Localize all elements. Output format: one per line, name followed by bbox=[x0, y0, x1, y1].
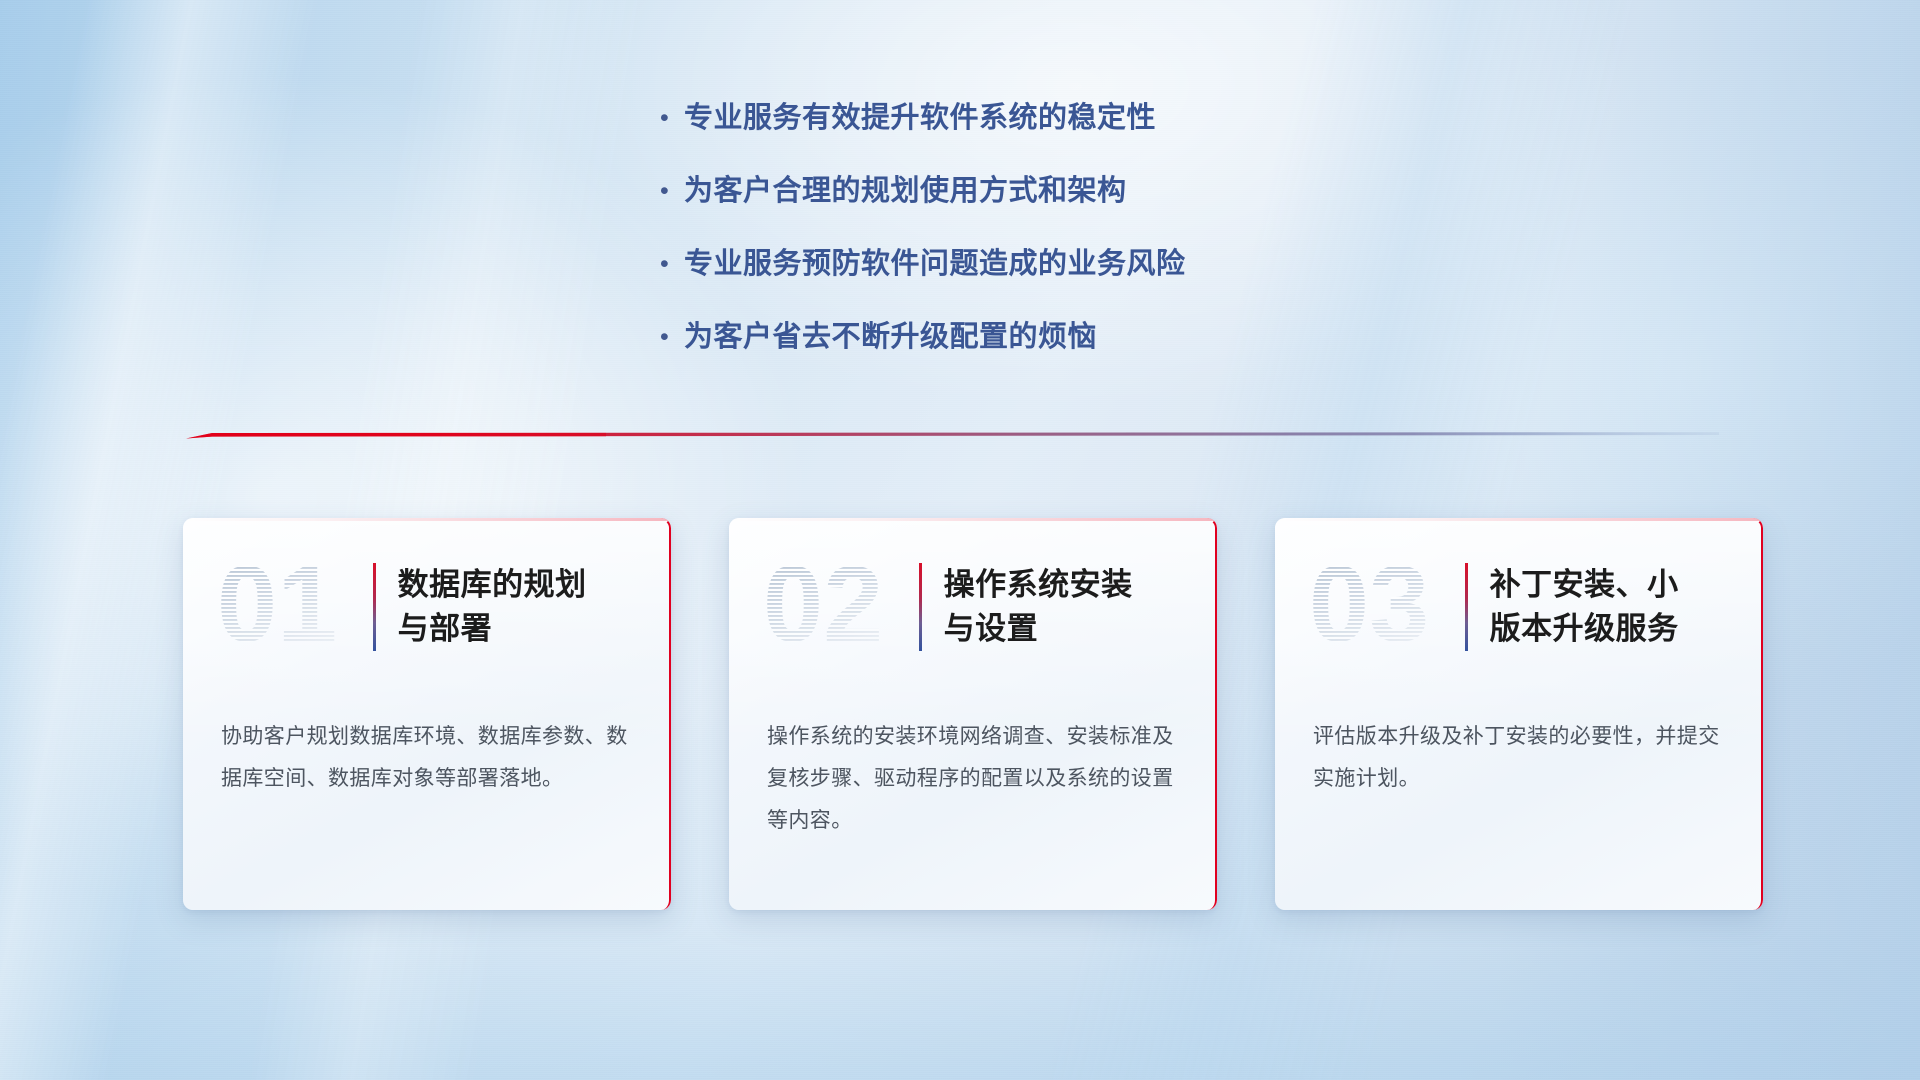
card-title: 补丁安装、小 版本升级服务 bbox=[1490, 563, 1679, 651]
bullet-text: 为客户合理的规划使用方式和架构 bbox=[684, 171, 1127, 211]
bullet-dot-icon: • bbox=[660, 244, 684, 284]
card-number-striped-graphic: 01 bbox=[217, 555, 367, 659]
benefits-bullet-list: • 专业服务有效提升软件系统的稳定性 • 为客户合理的规划使用方式和架构 • 专… bbox=[660, 98, 1420, 390]
list-item: • 为客户合理的规划使用方式和架构 bbox=[660, 171, 1420, 211]
card-number-striped-graphic: 02 bbox=[763, 555, 913, 659]
section-divider bbox=[186, 427, 1719, 441]
bullet-text: 专业服务预防软件问题造成的业务风险 bbox=[684, 244, 1186, 284]
card-title-line1: 数据库的规划 bbox=[398, 563, 587, 607]
service-card-group: 01 数据库的规划 与部署 协助客户规划数据库环境、数据库参数、数据库空间、数据… bbox=[183, 518, 1763, 910]
card-title-divider bbox=[1465, 563, 1468, 651]
card-title-divider bbox=[919, 563, 922, 651]
card-body-text: 操作系统的安装环境网络调查、安装标准及复核步骤、驱动程序的配置以及系统的设置等内… bbox=[729, 656, 1217, 842]
bullet-text: 专业服务有效提升软件系统的稳定性 bbox=[684, 98, 1156, 138]
card-title-line1: 补丁安装、小 bbox=[1490, 563, 1679, 607]
card-body-text: 评估版本升级及补丁安装的必要性，并提交实施计划。 bbox=[1275, 656, 1763, 800]
list-item: • 专业服务预防软件问题造成的业务风险 bbox=[660, 244, 1420, 284]
bullet-text: 为客户省去不断升级配置的烦恼 bbox=[684, 317, 1097, 357]
list-item: • 为客户省去不断升级配置的烦恼 bbox=[660, 317, 1420, 357]
bullet-dot-icon: • bbox=[660, 171, 684, 211]
card-title-line2: 与部署 bbox=[398, 607, 587, 651]
card-number-striped-graphic: 03 bbox=[1309, 555, 1459, 659]
card-title: 操作系统安装 与设置 bbox=[944, 563, 1133, 651]
card-title-line2: 与设置 bbox=[944, 607, 1133, 651]
card-title-line2: 版本升级服务 bbox=[1490, 607, 1679, 651]
card-title: 数据库的规划 与部署 bbox=[398, 563, 587, 651]
service-card[interactable]: 02 操作系统安装 与设置 操作系统的安装环境网络调查、安装标准及复核步骤、驱动… bbox=[729, 518, 1217, 910]
card-header: 02 操作系统安装 与设置 bbox=[729, 518, 1217, 656]
bullet-dot-icon: • bbox=[660, 98, 684, 138]
list-item: • 专业服务有效提升软件系统的稳定性 bbox=[660, 98, 1420, 138]
service-card[interactable]: 03 补丁安装、小 版本升级服务 评估版本升级及补丁安装的必要性，并提交实施计划… bbox=[1275, 518, 1763, 910]
card-header: 01 数据库的规划 与部署 bbox=[183, 518, 671, 656]
card-body-text: 协助客户规划数据库环境、数据库参数、数据库空间、数据库对象等部署落地。 bbox=[183, 656, 671, 800]
service-card[interactable]: 01 数据库的规划 与部署 协助客户规划数据库环境、数据库参数、数据库空间、数据… bbox=[183, 518, 671, 910]
card-title-divider bbox=[373, 563, 376, 651]
card-title-line1: 操作系统安装 bbox=[944, 563, 1133, 607]
bullet-dot-icon: • bbox=[660, 317, 684, 357]
card-header: 03 补丁安装、小 版本升级服务 bbox=[1275, 518, 1763, 656]
